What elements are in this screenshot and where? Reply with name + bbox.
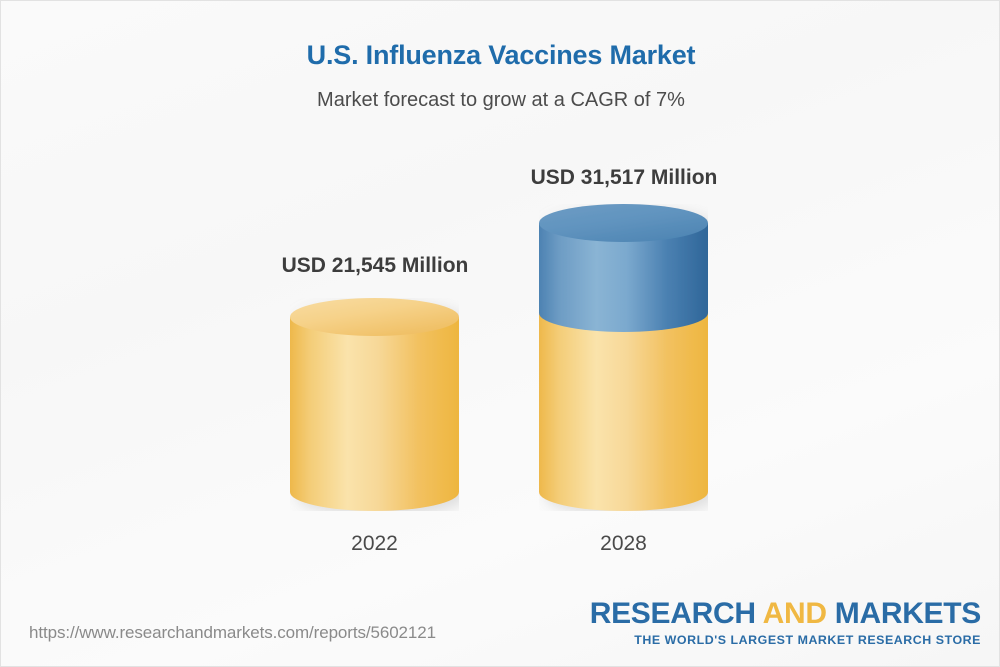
logo-tagline: THE WORLD'S LARGEST MARKET RESEARCH STOR…	[590, 634, 981, 646]
chart-card: U.S. Influenza Vaccines Market Market fo…	[0, 0, 1000, 667]
plot-area: USD 21,545 Million	[1, 1, 1000, 601]
logo-wordmark: RESEARCH AND MARKETS	[590, 599, 981, 629]
logo-word-markets: MARKETS	[827, 597, 981, 630]
value-label-2022: USD 21,545 Million	[190, 254, 560, 278]
report-url-link[interactable]: https://www.researchandmarkets.com/repor…	[29, 623, 436, 643]
logo-word-research: RESEARCH	[590, 597, 763, 630]
cylinder-2022-svg	[290, 298, 459, 511]
cylinder-2028	[539, 204, 708, 511]
value-label-2028: USD 31,517 Million	[439, 166, 809, 190]
year-label-2028: 2028	[539, 532, 708, 556]
research-and-markets-logo[interactable]: RESEARCH AND MARKETS THE WORLD'S LARGEST…	[590, 599, 981, 646]
logo-word-and: AND	[763, 597, 827, 630]
year-label-2022: 2022	[290, 532, 459, 556]
cylinder-2028-svg	[539, 204, 708, 511]
cylinder-2022	[290, 298, 459, 511]
